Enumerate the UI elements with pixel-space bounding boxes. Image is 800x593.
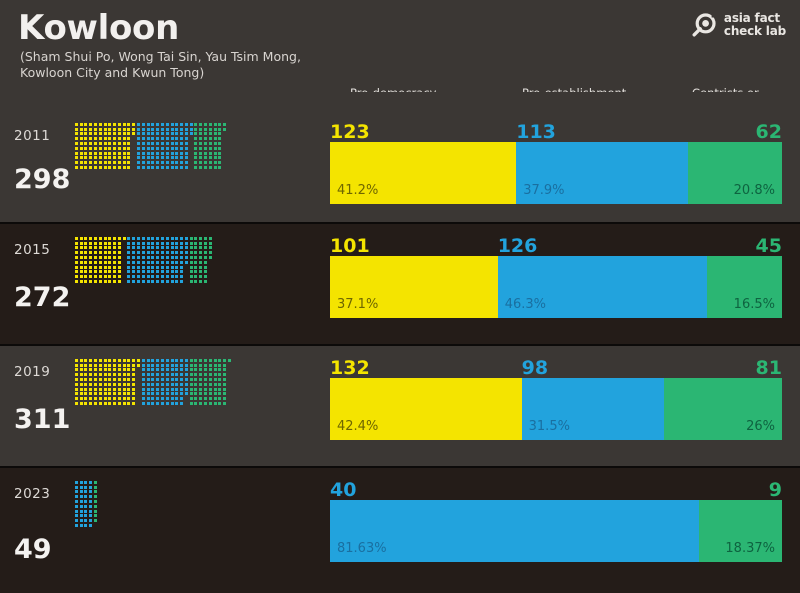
dot xyxy=(108,161,111,164)
segment-percent-centrist-2015: 16.5% xyxy=(734,298,775,312)
dot xyxy=(89,368,92,371)
dot xyxy=(80,237,83,240)
dot xyxy=(209,251,212,254)
dot xyxy=(166,368,169,371)
dot xyxy=(142,161,145,164)
dot xyxy=(161,392,164,395)
dot xyxy=(204,251,207,254)
stacked-bar-2019[interactable]: 42.4%31.5%26% xyxy=(330,378,782,440)
dot xyxy=(75,359,78,362)
dot xyxy=(142,368,145,371)
dot xyxy=(190,123,193,126)
dot xyxy=(175,402,178,405)
dot-group-pro_establishment xyxy=(74,480,93,528)
dot xyxy=(190,373,193,376)
dot xyxy=(94,275,97,278)
dot xyxy=(166,383,169,386)
dot xyxy=(80,137,83,140)
dot xyxy=(108,132,111,135)
dot xyxy=(89,397,92,400)
stacked-bar-2011[interactable]: 41.2%37.9%20.8% xyxy=(330,142,782,204)
segment-value-centrist-2023: 9 xyxy=(769,481,782,500)
dot xyxy=(180,261,183,264)
dot xyxy=(137,161,140,164)
dot xyxy=(104,388,107,391)
dot xyxy=(209,147,212,150)
bar-values-2015: 10112645 xyxy=(330,234,782,256)
dot xyxy=(180,251,183,254)
dot xyxy=(142,364,145,367)
bar-segment-pro_democracy-2011[interactable]: 41.2% xyxy=(330,142,516,204)
dot xyxy=(127,280,130,283)
dot xyxy=(142,373,145,376)
dot xyxy=(218,397,221,400)
dot xyxy=(190,246,193,249)
bar-segment-centrist-2019[interactable]: 26% xyxy=(664,378,782,440)
dot xyxy=(127,237,130,240)
dot xyxy=(118,392,121,395)
dot xyxy=(127,388,130,391)
dot xyxy=(171,256,174,259)
dot xyxy=(218,388,221,391)
segment-value-pro_establishment-2011: 113 xyxy=(516,123,556,142)
segment-percent-pro_establishment-2019: 31.5% xyxy=(529,420,570,434)
dot xyxy=(180,156,183,159)
dot-group-pro_democracy xyxy=(74,358,141,406)
dot xyxy=(113,270,116,273)
dot xyxy=(180,266,183,269)
dot xyxy=(75,251,78,254)
dot xyxy=(80,275,83,278)
dot xyxy=(147,368,150,371)
segment-value-pro_establishment-2015: 126 xyxy=(498,237,538,256)
stacked-bar-2015[interactable]: 37.1%46.3%16.5% xyxy=(330,256,782,318)
dot xyxy=(147,132,150,135)
dot xyxy=(94,251,97,254)
dot xyxy=(108,246,111,249)
dot xyxy=(132,388,135,391)
dot xyxy=(199,359,202,362)
dot xyxy=(185,132,188,135)
dot xyxy=(113,128,116,131)
dot xyxy=(151,397,154,400)
dot xyxy=(118,383,121,386)
dot xyxy=(180,137,183,140)
dot xyxy=(118,261,121,264)
dot xyxy=(194,132,197,135)
dot xyxy=(118,137,121,140)
dot xyxy=(175,237,178,240)
dot xyxy=(80,152,83,155)
dot xyxy=(108,392,111,395)
stacked-bar-2023[interactable]: 81.63%18.37% xyxy=(330,500,782,562)
dot xyxy=(80,270,83,273)
total-candidates-value-2023: 49 xyxy=(14,534,52,565)
bar-values-2023: 409 xyxy=(330,478,782,500)
dot xyxy=(204,378,207,381)
bar-segment-pro_establishment-2011[interactable]: 37.9% xyxy=(516,142,687,204)
dot xyxy=(108,402,111,405)
dot xyxy=(185,368,188,371)
dot xyxy=(118,123,121,126)
dot xyxy=(161,368,164,371)
dot xyxy=(84,378,87,381)
bar-block-2015: 1011264537.1%46.3%16.5% xyxy=(330,234,782,318)
dot xyxy=(84,147,87,150)
dot xyxy=(209,142,212,145)
dot xyxy=(80,128,83,131)
dot xyxy=(118,246,121,249)
dot xyxy=(108,147,111,150)
dot xyxy=(194,364,197,367)
dot xyxy=(171,261,174,264)
dot xyxy=(166,373,169,376)
dot xyxy=(175,261,178,264)
dot xyxy=(108,397,111,400)
row-divider xyxy=(0,222,800,224)
bar-segment-pro_establishment-2015[interactable]: 46.3% xyxy=(498,256,707,318)
dot xyxy=(194,246,197,249)
dot xyxy=(113,242,116,245)
dot xyxy=(80,359,83,362)
dot xyxy=(94,123,97,126)
dot xyxy=(118,266,121,269)
dot xyxy=(104,270,107,273)
dot xyxy=(156,397,159,400)
dot-group-pro_establishment xyxy=(127,236,189,284)
dot xyxy=(137,128,140,131)
bar-segment-pro_democracy-2019[interactable]: 42.4% xyxy=(330,378,522,440)
dot xyxy=(147,364,150,367)
dot xyxy=(175,251,178,254)
dot xyxy=(190,275,193,278)
dot xyxy=(166,402,169,405)
dot xyxy=(99,261,102,264)
dot xyxy=(75,256,78,259)
dot xyxy=(151,152,154,155)
dot xyxy=(147,142,150,145)
dot xyxy=(113,368,116,371)
dot xyxy=(166,256,169,259)
dot xyxy=(99,161,102,164)
dot xyxy=(104,383,107,386)
dot xyxy=(108,142,111,145)
dot xyxy=(156,261,159,264)
dot xyxy=(175,397,178,400)
dot xyxy=(132,392,135,395)
dot xyxy=(194,359,197,362)
dot xyxy=(214,161,217,164)
dot xyxy=(104,237,107,240)
dot xyxy=(89,383,92,386)
dot xyxy=(94,388,97,391)
dot xyxy=(161,242,164,245)
dot-matrix-2015 xyxy=(74,236,213,284)
dot xyxy=(127,397,130,400)
bar-values-2011: 12311362 xyxy=(330,120,782,142)
dot xyxy=(137,123,140,126)
dot xyxy=(118,161,121,164)
dot xyxy=(151,142,154,145)
bar-segment-pro_establishment-2019[interactable]: 31.5% xyxy=(522,378,664,440)
dot xyxy=(151,147,154,150)
dot xyxy=(104,137,107,140)
dot xyxy=(147,270,150,273)
dot xyxy=(161,373,164,376)
dot xyxy=(84,373,87,376)
dot xyxy=(99,166,102,169)
dot xyxy=(190,242,193,245)
dot xyxy=(75,161,78,164)
segment-value-pro_democracy-2019: 132 xyxy=(330,359,370,378)
dot xyxy=(209,161,212,164)
dot xyxy=(214,359,217,362)
dot xyxy=(84,156,87,159)
dot xyxy=(142,261,145,264)
dot xyxy=(175,242,178,245)
dot xyxy=(161,123,164,126)
dot xyxy=(194,256,197,259)
dot xyxy=(171,402,174,405)
dot xyxy=(118,402,121,405)
dot xyxy=(156,388,159,391)
dot xyxy=(123,397,126,400)
dot xyxy=(161,266,164,269)
dot xyxy=(104,147,107,150)
dot xyxy=(75,505,78,508)
dot xyxy=(94,519,97,522)
dot xyxy=(84,161,87,164)
segment-percent-pro_establishment-2023: 81.63% xyxy=(337,542,387,556)
dot xyxy=(147,275,150,278)
dot xyxy=(228,359,231,362)
dot xyxy=(84,128,87,131)
dot xyxy=(185,237,188,240)
dot xyxy=(175,161,178,164)
dot xyxy=(99,256,102,259)
dot xyxy=(89,364,92,367)
dot xyxy=(156,237,159,240)
dot xyxy=(161,246,164,249)
dot xyxy=(104,123,107,126)
dot xyxy=(151,359,154,362)
dot xyxy=(127,166,130,169)
dot xyxy=(171,237,174,240)
segment-value-pro_establishment-2019: 98 xyxy=(522,359,548,378)
dot xyxy=(161,256,164,259)
dot xyxy=(166,246,169,249)
dot xyxy=(80,147,83,150)
dot xyxy=(75,142,78,145)
dot xyxy=(185,242,188,245)
dot xyxy=(171,242,174,245)
dot xyxy=(89,392,92,395)
dot xyxy=(204,397,207,400)
dot xyxy=(89,156,92,159)
dot xyxy=(161,128,164,131)
year-row-2011: 20112981231136241.2%37.9%20.8% xyxy=(0,92,800,220)
dot xyxy=(75,388,78,391)
dot xyxy=(75,514,78,517)
dot xyxy=(214,132,217,135)
dot xyxy=(80,397,83,400)
dot xyxy=(175,246,178,249)
dot xyxy=(75,495,78,498)
dot xyxy=(218,392,221,395)
total-candidates-value-2015: 272 xyxy=(14,282,70,313)
dot xyxy=(194,156,197,159)
dot xyxy=(171,388,174,391)
dot xyxy=(142,383,145,386)
dot xyxy=(108,368,111,371)
bar-segment-centrist-2011[interactable]: 20.8% xyxy=(688,142,782,204)
dot xyxy=(147,266,150,269)
dot xyxy=(180,123,183,126)
dot xyxy=(104,364,107,367)
dot xyxy=(199,383,202,386)
dot xyxy=(104,266,107,269)
dot xyxy=(94,132,97,135)
dot xyxy=(190,359,193,362)
dot xyxy=(113,137,116,140)
bar-segment-centrist-2015[interactable]: 16.5% xyxy=(707,256,782,318)
dot xyxy=(137,142,140,145)
dot xyxy=(108,266,111,269)
dot xyxy=(147,156,150,159)
dot xyxy=(156,242,159,245)
dot xyxy=(127,147,130,150)
dot xyxy=(175,132,178,135)
dot xyxy=(166,132,169,135)
dot xyxy=(185,152,188,155)
dot xyxy=(94,137,97,140)
dot xyxy=(214,123,217,126)
dot xyxy=(199,261,202,264)
dot xyxy=(204,128,207,131)
dot xyxy=(113,280,116,283)
dot xyxy=(75,519,78,522)
dot xyxy=(127,161,130,164)
dot xyxy=(84,132,87,135)
dot xyxy=(99,402,102,405)
dot xyxy=(204,388,207,391)
dot xyxy=(127,368,130,371)
year-label-2011: 2011 xyxy=(14,128,50,144)
dot xyxy=(199,378,202,381)
dot xyxy=(161,261,164,264)
dot xyxy=(209,152,212,155)
dot xyxy=(147,383,150,386)
dot xyxy=(113,256,116,259)
dot xyxy=(99,237,102,240)
dot xyxy=(214,388,217,391)
dot xyxy=(108,275,111,278)
dot xyxy=(94,402,97,405)
dot xyxy=(80,495,83,498)
dot xyxy=(223,383,226,386)
dot xyxy=(94,270,97,273)
dot xyxy=(80,142,83,145)
dot xyxy=(151,156,154,159)
dot xyxy=(75,166,78,169)
dot xyxy=(185,147,188,150)
dot xyxy=(108,280,111,283)
bar-segment-centrist-2023[interactable]: 18.37% xyxy=(699,500,782,562)
dot xyxy=(199,246,202,249)
dot xyxy=(147,242,150,245)
dot xyxy=(161,147,164,150)
dot xyxy=(209,256,212,259)
dot xyxy=(209,397,212,400)
dot xyxy=(84,280,87,283)
dot xyxy=(218,147,221,150)
dot xyxy=(94,147,97,150)
bar-segment-pro_establishment-2023[interactable]: 81.63% xyxy=(330,500,699,562)
dot xyxy=(171,392,174,395)
dot xyxy=(204,142,207,145)
dot xyxy=(151,132,154,135)
dot xyxy=(84,388,87,391)
dot xyxy=(137,156,140,159)
dot xyxy=(84,486,87,489)
magnifier-logo-icon xyxy=(691,12,717,38)
dot xyxy=(190,261,193,264)
dot xyxy=(132,242,135,245)
dot xyxy=(185,383,188,386)
dot xyxy=(75,156,78,159)
dot xyxy=(190,368,193,371)
dot xyxy=(127,242,130,245)
dot xyxy=(142,266,145,269)
dot xyxy=(108,388,111,391)
dot xyxy=(166,266,169,269)
dot xyxy=(204,137,207,140)
dot xyxy=(190,237,193,240)
dot xyxy=(190,392,193,395)
dot xyxy=(218,364,221,367)
dot xyxy=(194,402,197,405)
dot xyxy=(132,123,135,126)
dot xyxy=(199,251,202,254)
dot xyxy=(204,270,207,273)
bar-segment-pro_democracy-2015[interactable]: 37.1% xyxy=(330,256,498,318)
dot xyxy=(80,123,83,126)
dot xyxy=(156,373,159,376)
dot xyxy=(89,242,92,245)
dot xyxy=(209,123,212,126)
dot xyxy=(118,152,121,155)
dot xyxy=(84,392,87,395)
bar-block-2019: 132988142.4%31.5%26% xyxy=(330,356,782,440)
dot xyxy=(209,132,212,135)
dot xyxy=(218,359,221,362)
dot xyxy=(175,383,178,386)
dot xyxy=(80,383,83,386)
dot xyxy=(132,270,135,273)
dot xyxy=(89,246,92,249)
dot xyxy=(75,152,78,155)
dot xyxy=(209,378,212,381)
dot xyxy=(156,156,159,159)
dot xyxy=(113,392,116,395)
dot xyxy=(190,397,193,400)
dot xyxy=(166,251,169,254)
dot xyxy=(175,270,178,273)
dot xyxy=(199,147,202,150)
dot xyxy=(171,161,174,164)
dot xyxy=(108,152,111,155)
dot xyxy=(151,251,154,254)
